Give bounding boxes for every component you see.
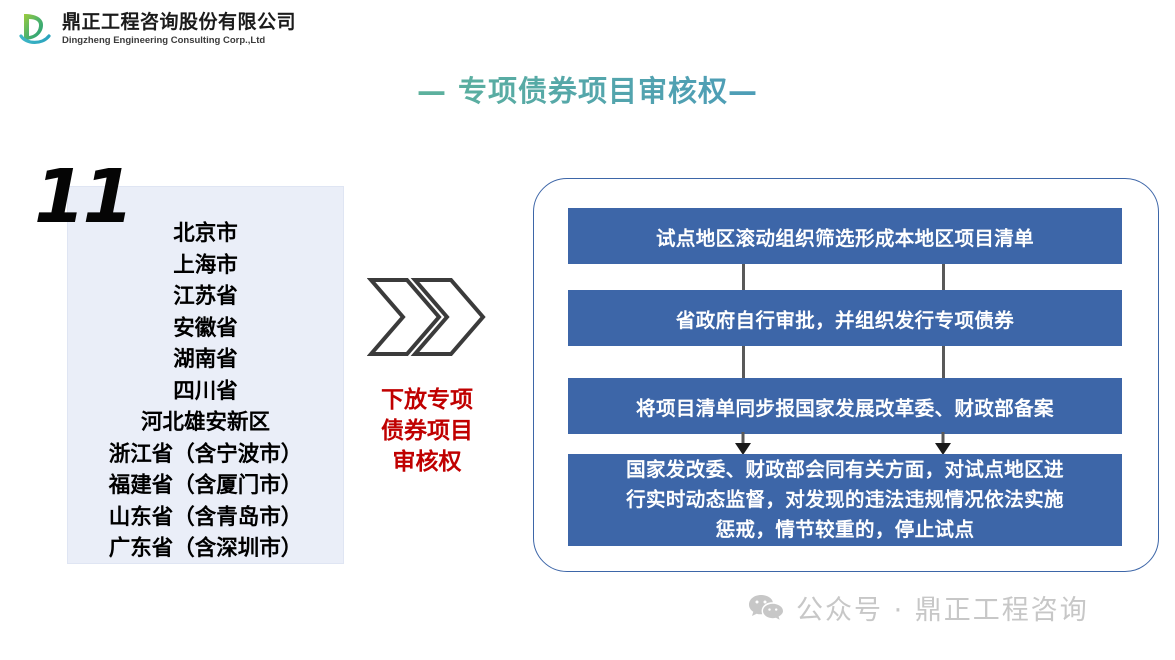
double-chevron-right-icon xyxy=(367,276,487,358)
list-item: 四川省 xyxy=(67,376,344,408)
dingzheng-d-leaf-logo-icon xyxy=(18,10,54,48)
list-item: 山东省（含青岛市） xyxy=(67,502,344,534)
page-title: — 专项债券项目审核权— xyxy=(0,68,1175,110)
flow-step-2[interactable]: 省政府自行审批，并组织发行专项债券 xyxy=(568,290,1122,346)
flow-step-3[interactable]: 将项目清单同步报国家发展改革委、财政部备案 xyxy=(568,378,1122,434)
flow-step-4[interactable]: 国家发改委、财政部会同有关方面，对试点地区进 行实时动态监督，对发现的违法违规情… xyxy=(568,454,1122,546)
transfer-caption-line: 下放专项 xyxy=(352,385,502,416)
flow-connector-line xyxy=(942,346,945,378)
brand-name-en: Dingzheng Engineering Consulting Corp.,L… xyxy=(62,36,296,46)
transfer-caption: 下放专项 债券项目 审核权 xyxy=(352,385,502,478)
list-item: 广东省（含深圳市） xyxy=(67,533,344,565)
brand-header: 鼎正工程咨询股份有限公司 Dingzheng Engineering Consu… xyxy=(18,6,288,52)
wechat-icon xyxy=(748,593,784,623)
region-list: 北京市 上海市 江苏省 安徽省 湖南省 四川省 河北雄安新区 浙江省（含宁波市）… xyxy=(67,218,344,565)
list-item: 浙江省（含宁波市） xyxy=(67,439,344,471)
brand-name-cn: 鼎正工程咨询股份有限公司 xyxy=(62,13,296,32)
transfer-caption-line: 审核权 xyxy=(352,447,502,478)
flow-arrow-down-icon xyxy=(932,432,954,456)
wechat-label: 公众号 · 鼎正工程咨询 xyxy=(796,588,1089,627)
list-item: 北京市 xyxy=(67,218,344,250)
transfer-caption-line: 债券项目 xyxy=(352,416,502,447)
flow-step-4-line: 惩戒，情节较重的，停止试点 xyxy=(626,515,1064,545)
wechat-watermark: 公众号 · 鼎正工程咨询 xyxy=(748,588,1089,627)
flow-connector-line xyxy=(742,264,745,290)
list-item: 湖南省 xyxy=(67,344,344,376)
list-item: 福建省（含厦门市） xyxy=(67,470,344,502)
flow-connector-line xyxy=(942,264,945,290)
flow-step-4-line: 行实时动态监督，对发现的违法违规情况依法实施 xyxy=(626,485,1064,515)
brand-text-block: 鼎正工程咨询股份有限公司 Dingzheng Engineering Consu… xyxy=(62,13,296,46)
list-item: 上海市 xyxy=(67,250,344,282)
flow-arrow-down-icon xyxy=(732,432,754,456)
list-item: 江苏省 xyxy=(67,281,344,313)
flow-step-1[interactable]: 试点地区滚动组织筛选形成本地区项目清单 xyxy=(568,208,1122,264)
flow-connector-line xyxy=(742,346,745,378)
list-item: 安徽省 xyxy=(67,313,344,345)
flow-step-4-line: 国家发改委、财政部会同有关方面，对试点地区进 xyxy=(626,455,1064,485)
list-item: 河北雄安新区 xyxy=(67,407,344,439)
